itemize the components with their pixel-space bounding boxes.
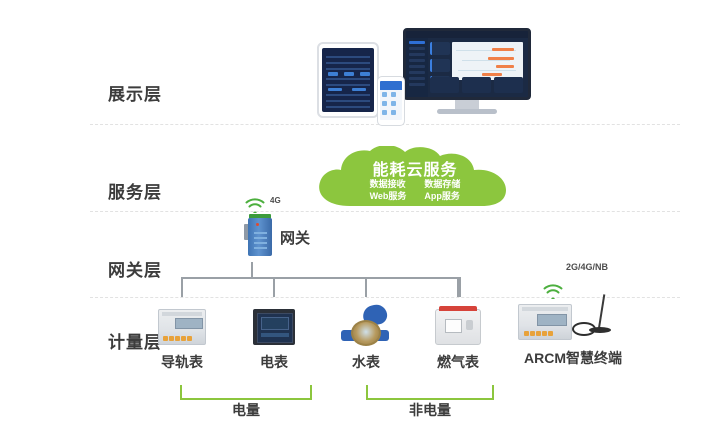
- cloud-services-right: 数据存储 App服务: [424, 179, 460, 202]
- wire-gateway-to-bus: [251, 262, 253, 278]
- bracket-electricity: [180, 385, 312, 400]
- cloud-title: 能耗云服务: [310, 156, 520, 180]
- arcm-label: ARCM智慧终端: [488, 348, 658, 368]
- desktop-monitor-icon: [403, 28, 531, 100]
- bracket-non-electricity: [366, 385, 494, 400]
- bracket-label-non-electricity: 非电量: [366, 400, 494, 420]
- arcm-terminal-node: 2G/4G/NB ARCM智慧终端: [500, 262, 650, 372]
- arcm-terminal-icon: [518, 304, 572, 340]
- meter-label: 导轨表: [136, 352, 228, 372]
- water-meter-icon: [341, 305, 391, 347]
- tablet-icon: [317, 42, 379, 118]
- smartphone-icon: [377, 76, 405, 126]
- gas-meter-icon: [435, 309, 481, 345]
- cloud-services-left: 数据接收 Web服务: [370, 179, 407, 202]
- gateway-node: 4G 网关: [238, 196, 358, 254]
- meter-label: 电表: [228, 352, 320, 372]
- arcm-network-label: 2G/4G/NB: [566, 262, 608, 272]
- gateway-device-icon: [244, 218, 274, 258]
- wifi-icon: [244, 196, 266, 213]
- wire-drop-meter-1: [181, 277, 183, 297]
- cloud-service-item: 数据接收: [370, 179, 406, 190]
- wire-drop-meter-3: [365, 277, 367, 297]
- meter-din-rail: 导轨表: [136, 303, 228, 372]
- gateway-label: 网关: [280, 227, 310, 248]
- layer-label-gateway: 网关层: [108, 256, 162, 281]
- meter-label: 水表: [320, 352, 412, 372]
- wire-drop-meter-2: [273, 277, 275, 297]
- wire-meter-bus: [181, 277, 458, 279]
- meter-water: 水表: [320, 303, 412, 372]
- display-layer-devices: [305, 8, 535, 120]
- electric-meter-icon: [253, 309, 295, 345]
- layer-label-display: 展示层: [108, 80, 162, 105]
- wifi-icon: [542, 282, 564, 299]
- gateway-network-label: 4G: [270, 196, 281, 205]
- monitor-stand-base: [437, 109, 497, 114]
- cloud-service-item: Web服务: [370, 191, 407, 202]
- bracket-label-electricity: 电量: [180, 400, 312, 420]
- layer-separator-2: [90, 211, 680, 212]
- wire-drop-arcm: [459, 277, 461, 297]
- layer-label-service: 服务层: [108, 178, 162, 203]
- architecture-diagram: 展示层 服务层 网关层 计量层: [0, 0, 715, 443]
- cloud-service-item: App服务: [424, 191, 460, 202]
- antenna-icon: [572, 294, 612, 340]
- din-rail-meter-icon: [158, 309, 206, 345]
- meter-electric: 电表: [228, 303, 320, 372]
- cloud-service-item: 数据存储: [424, 179, 460, 190]
